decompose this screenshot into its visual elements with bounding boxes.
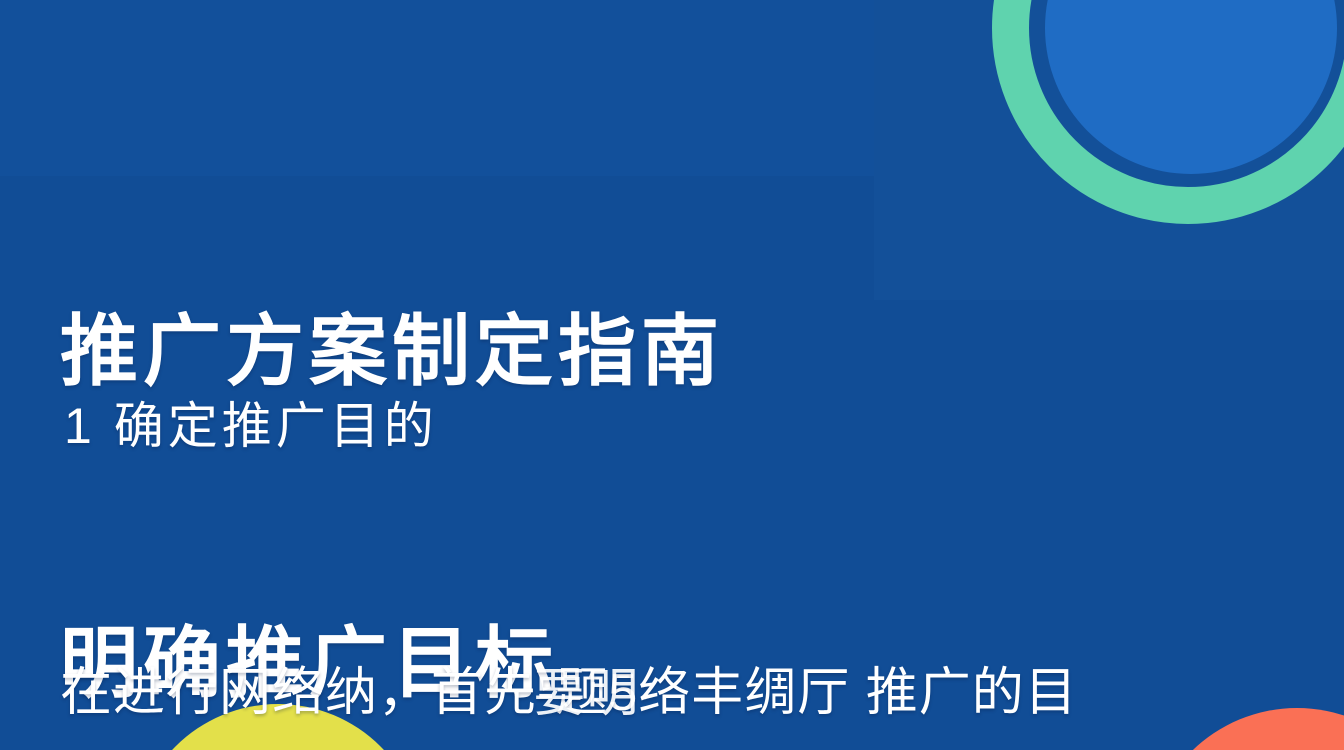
body-line-1-overlap-2: 丰绸厅 — [691, 664, 850, 722]
body-line-1-ghost-layer: 要明 — [533, 655, 639, 733]
slide-title-line-1: 推广方案制定指南 — [60, 300, 960, 404]
body-line-1-overlap-group: 要明题5 — [555, 654, 638, 732]
section-heading: 1 确定推广目的 — [64, 396, 438, 456]
slide-canvas: 推广方案制定指南 明确推广目标 1 确定推广目的 在进行网络纳，首先-要明题5络… — [0, 0, 1344, 750]
body-line-1-overlap-tail: 络 — [638, 664, 691, 722]
body-paragraph: 在进行网络纳，首先-要明题5络丰绸厅 推广的目 的，是为了提升品牌知名 — [60, 498, 1340, 750]
slide-content: 推广方案制定指南 明确推广目标 1 确定推广目的 在进行网络纳，首先-要明题5络… — [0, 0, 1344, 750]
body-line-1: 在进行网络纳，首先-要明题5络丰绸厅 推广的目 — [60, 654, 1340, 732]
body-line-1-suffix: 推广的目 — [850, 664, 1077, 722]
body-line-1-prefix: 在进行网络纳，首先- — [60, 664, 555, 722]
